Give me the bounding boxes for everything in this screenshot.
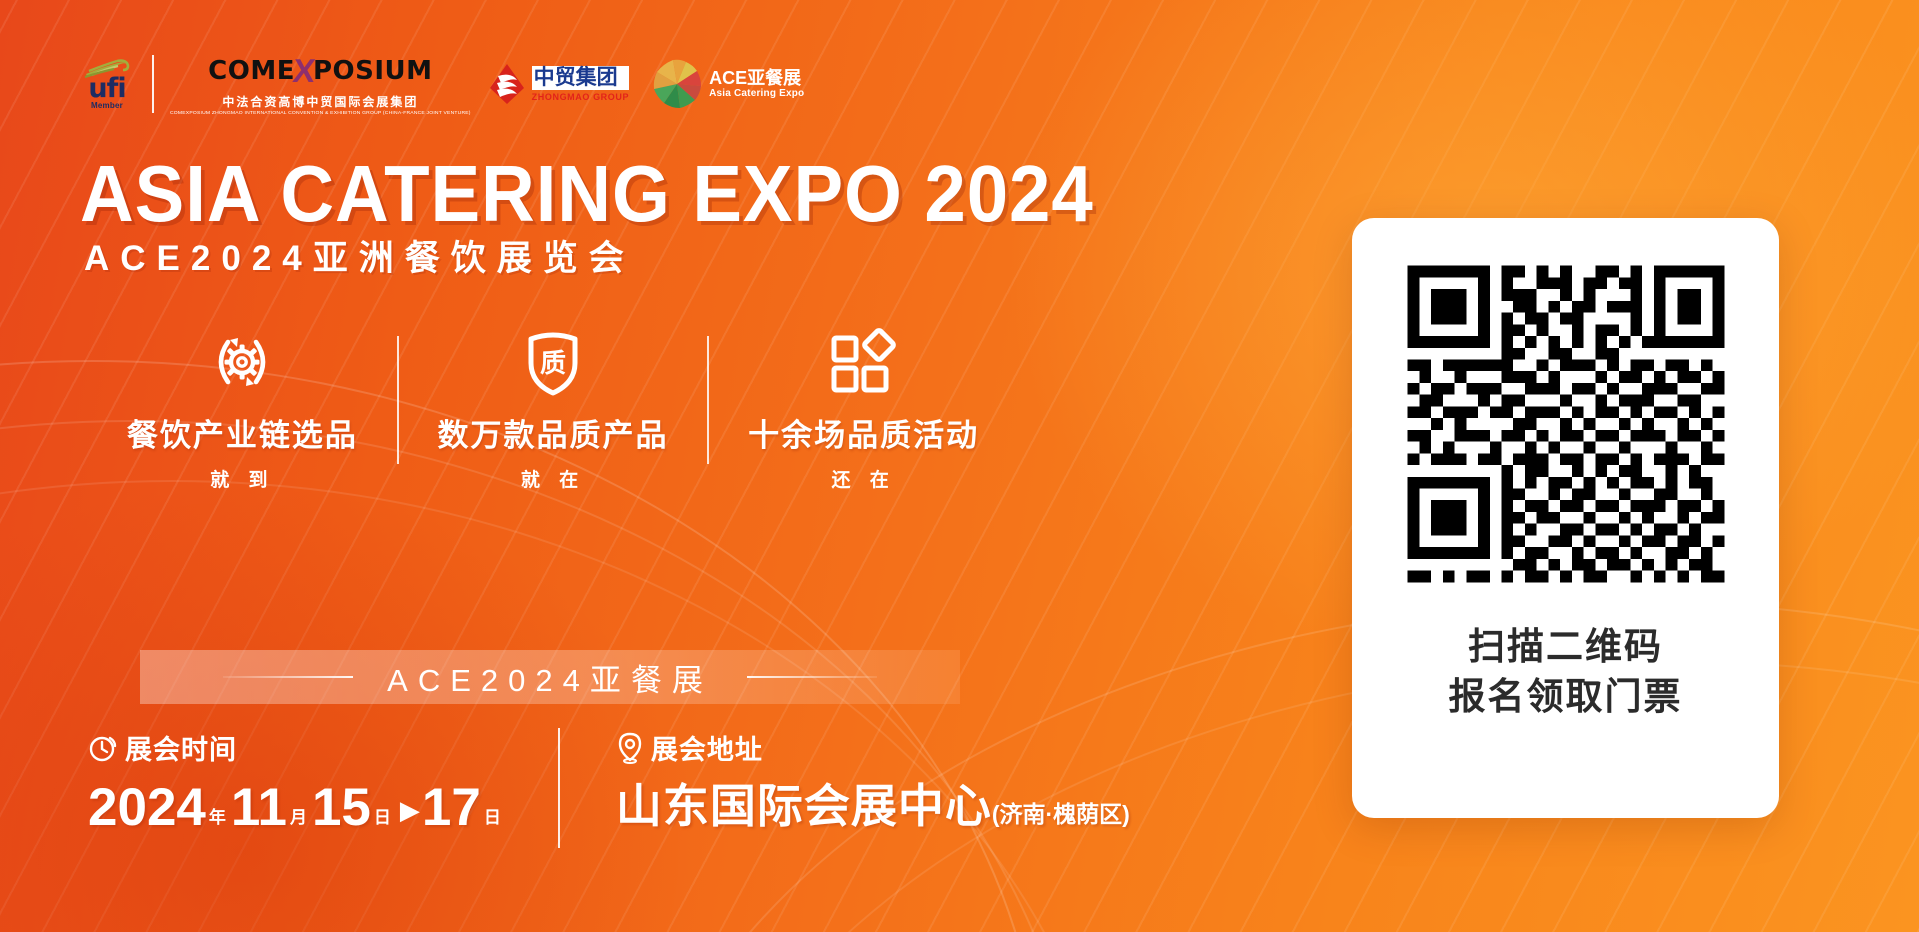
swoosh-arc-3 bbox=[0, 480, 1124, 932]
comexposium-english-name: COMEXPOSIUM ZHONGMAO INTERNATIONAL CONVE… bbox=[170, 110, 471, 115]
comexposium-part2: POSIUM bbox=[313, 56, 433, 86]
event-time-label: 展会时间 bbox=[125, 728, 237, 767]
ufi-member-label: Member bbox=[91, 101, 123, 110]
ribbon-line-right bbox=[747, 676, 877, 678]
quality-shield-icon: 质 bbox=[522, 330, 584, 394]
qr-code-image[interactable] bbox=[1396, 254, 1736, 594]
clock-icon bbox=[88, 733, 118, 763]
logo-divider-1 bbox=[152, 55, 154, 113]
promo-banner: ufi Member COME X POSIUM 中法合资高博中贸国际会展集团 … bbox=[0, 0, 1919, 932]
feature-item-quality-products: 质 数万款品质产品 就 在 bbox=[399, 330, 708, 492]
qr-caption-line2: 报名领取门票 bbox=[1449, 672, 1683, 722]
feature-row: 餐饮产业链选品 就 到 质 数万款品质产品 就 在 bbox=[88, 330, 1018, 492]
feature-subtitle: 就 在 bbox=[521, 465, 585, 492]
event-venue: 山东国际会展中心 bbox=[616, 781, 992, 831]
ace-logo-chinese: ACE亚餐展 bbox=[709, 69, 804, 88]
ace-logo-english: Asia Catering Expo bbox=[709, 88, 804, 99]
feature-title: 十余场品质活动 bbox=[748, 410, 979, 455]
comexposium-part1: COME bbox=[208, 56, 295, 86]
qr-caption: 扫描二维码 报名领取门票 bbox=[1449, 622, 1683, 722]
comexposium-x-glyph: X bbox=[291, 52, 317, 90]
event-day-start-unit: 日 bbox=[374, 803, 391, 828]
event-district: (济南·槐荫区) bbox=[992, 789, 1130, 839]
feature-title: 餐饮产业链选品 bbox=[127, 410, 358, 455]
feature-title: 数万款品质产品 bbox=[438, 410, 669, 455]
event-address-label: 展会地址 bbox=[651, 728, 763, 767]
info-divider bbox=[558, 728, 560, 848]
event-time-block: 展会时间 2024 年 11 月 15 日 ▶ 17 日 bbox=[88, 728, 506, 835]
ufi-member-logo: ufi Member bbox=[78, 58, 136, 110]
event-day-end: 17 bbox=[422, 781, 481, 835]
hero-subtitle: ACE2024亚洲餐饮展览会 bbox=[84, 230, 635, 281]
event-day-end-unit: 日 bbox=[484, 803, 501, 828]
comexposium-chinese-name: 中法合资高博中贸国际会展集团 bbox=[222, 93, 418, 110]
event-year: 2024 bbox=[88, 781, 206, 835]
ribbon-line-left bbox=[223, 676, 353, 678]
date-range-arrow-icon: ▶ bbox=[400, 795, 420, 826]
ufi-wordmark: ufi bbox=[88, 78, 125, 100]
zhongmao-emblem-icon bbox=[487, 62, 527, 106]
qr-registration-card[interactable]: 扫描二维码 报名领取门票 bbox=[1352, 218, 1779, 818]
gear-cycle-icon bbox=[208, 330, 276, 394]
qr-caption-line1: 扫描二维码 bbox=[1449, 622, 1683, 672]
feature-subtitle: 就 到 bbox=[210, 465, 274, 492]
hero-title: ASIA CATERING EXPO 2024 bbox=[80, 148, 1094, 240]
pinwheel-icon bbox=[651, 58, 703, 110]
event-month: 11 bbox=[231, 781, 287, 835]
ribbon-banner: ACE2024亚餐展 bbox=[140, 650, 960, 704]
event-day-start: 15 bbox=[312, 781, 371, 835]
feature-item-supply-chain: 餐饮产业链选品 就 到 bbox=[88, 330, 397, 492]
event-time-value: 2024 年 11 月 15 日 ▶ 17 日 bbox=[88, 781, 506, 835]
event-year-unit: 年 bbox=[209, 803, 226, 828]
zhongmao-group-logo: 中贸集团 ZHONGMAO GROUP bbox=[487, 62, 629, 106]
zhongmao-english-name: ZHONGMAO GROUP bbox=[532, 92, 629, 102]
event-address-block: 展会地址 山东国际会展中心 (济南·槐荫区) bbox=[616, 728, 1130, 839]
event-address-value: 山东国际会展中心 (济南·槐荫区) bbox=[616, 781, 1130, 839]
feature-subtitle: 还 在 bbox=[832, 465, 896, 492]
sponsor-logo-bar: ufi Member COME X POSIUM 中法合资高博中贸国际会展集团 … bbox=[78, 48, 804, 120]
svg-text:质: 质 bbox=[540, 348, 566, 378]
event-month-unit: 月 bbox=[290, 803, 307, 828]
ace-expo-logo: ACE亚餐展 Asia Catering Expo bbox=[651, 58, 804, 110]
ribbon-text: ACE2024亚餐展 bbox=[387, 655, 713, 700]
zhongmao-chinese-name: 中贸集团 bbox=[532, 66, 629, 90]
location-pin-icon bbox=[616, 732, 644, 764]
event-info-row: 展会时间 2024 年 11 月 15 日 ▶ 17 日 bbox=[88, 728, 1130, 848]
shapes-icon bbox=[828, 330, 900, 394]
feature-item-quality-events: 十余场品质活动 还 在 bbox=[709, 330, 1018, 492]
comexposium-logo: COME X POSIUM 中法合资高博中贸国际会展集团 COMEXPOSIUM… bbox=[170, 52, 471, 116]
